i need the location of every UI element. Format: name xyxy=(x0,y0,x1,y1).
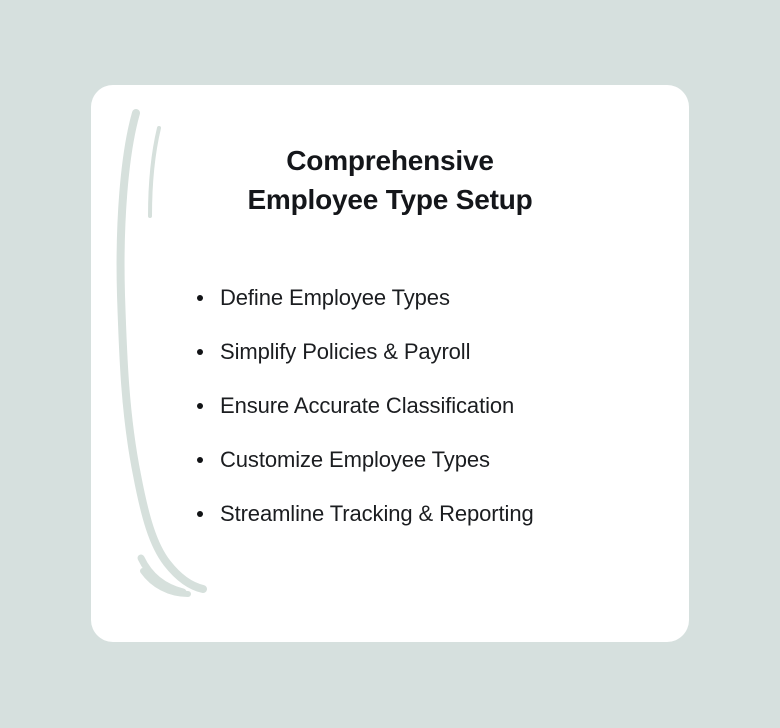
list-item-label: Streamline Tracking & Reporting xyxy=(220,487,534,541)
page-title: Comprehensive Employee Type Setup xyxy=(91,141,689,219)
page-title-line-2: Employee Type Setup xyxy=(91,180,689,219)
list-item-label: Ensure Accurate Classification xyxy=(220,379,514,433)
list-item: Simplify Policies & Payroll xyxy=(192,325,662,379)
list-item-label: Simplify Policies & Payroll xyxy=(220,325,470,379)
bullet-dot-icon xyxy=(197,349,203,355)
list-item: Streamline Tracking & Reporting xyxy=(192,487,662,541)
bullet-dot-icon xyxy=(197,457,203,463)
decor-lower-accent-curve-2 xyxy=(143,571,188,594)
list-item-label: Define Employee Types xyxy=(220,271,450,325)
bullet-dot-icon xyxy=(197,403,203,409)
decor-lower-accent-curve xyxy=(141,558,183,592)
list-item: Ensure Accurate Classification xyxy=(192,379,662,433)
list-item-label: Customize Employee Types xyxy=(220,433,490,487)
slide-canvas: Comprehensive Employee Type Setup Define… xyxy=(0,0,780,728)
feature-bullet-list: Define Employee Types Simplify Policies … xyxy=(192,271,662,541)
bullet-dot-icon xyxy=(197,295,203,301)
list-item: Customize Employee Types xyxy=(192,433,662,487)
bullet-dot-icon xyxy=(197,511,203,517)
content-card: Comprehensive Employee Type Setup Define… xyxy=(91,85,689,642)
page-title-line-1: Comprehensive xyxy=(91,141,689,180)
list-item: Define Employee Types xyxy=(192,271,662,325)
